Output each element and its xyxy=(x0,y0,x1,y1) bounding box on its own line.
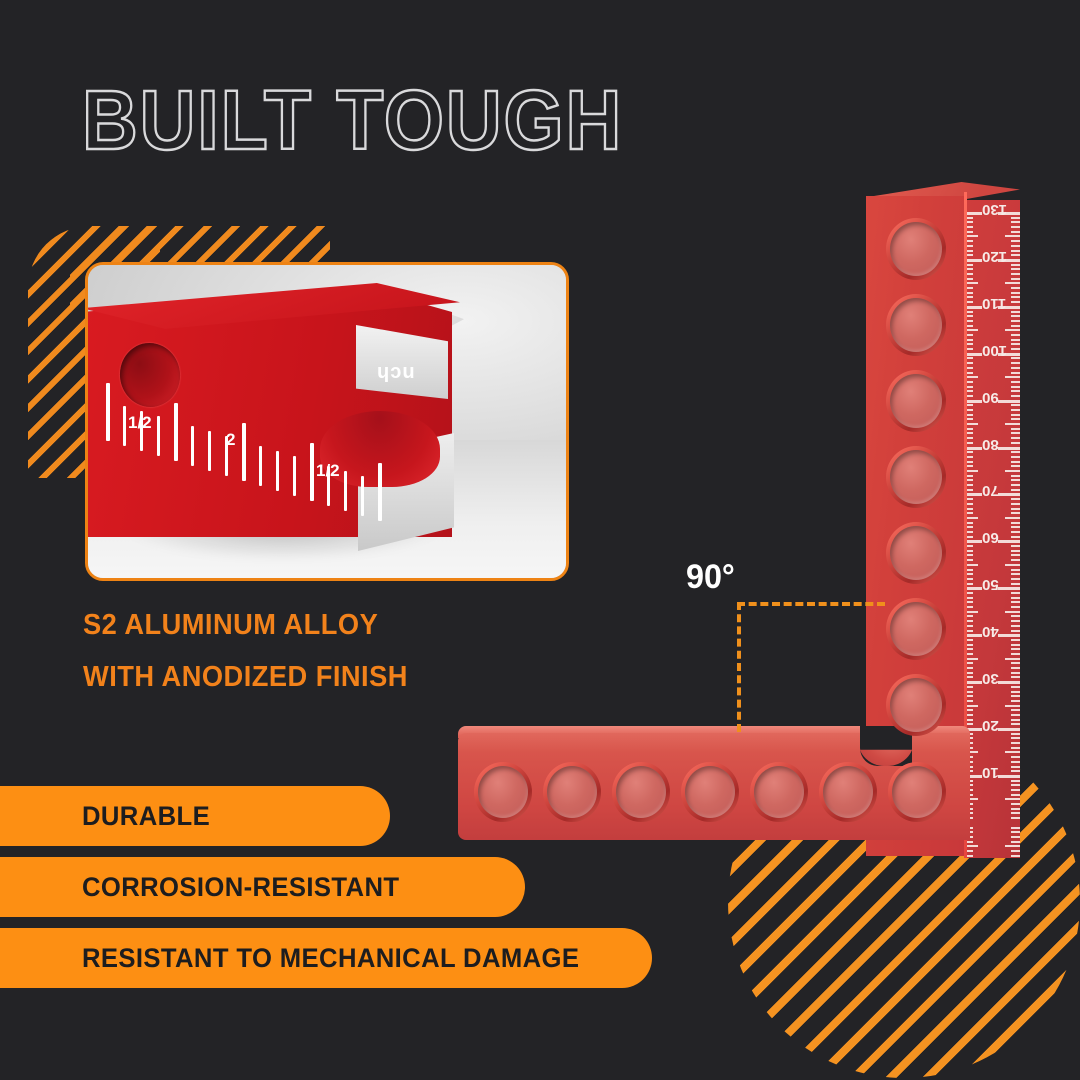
ruler-tick-minor-left xyxy=(966,240,973,242)
ruler-tick-minor-left xyxy=(966,268,973,270)
ruler-tick-minor-left xyxy=(966,437,973,439)
ruler-tick-minor xyxy=(1011,714,1020,716)
ruler-tick-minor xyxy=(1011,597,1020,599)
ruler-tick-major xyxy=(998,681,1020,684)
ruler-tick-minor xyxy=(1011,578,1020,580)
ruler-tick-minor xyxy=(1005,470,1020,472)
ruler-tick-minor-left xyxy=(966,498,973,500)
ruler-tick-minor-left xyxy=(966,278,973,280)
ruler-tick-minor xyxy=(1005,658,1020,660)
ruler-tick-minor xyxy=(1011,245,1020,247)
ruler-tick-minor xyxy=(1011,573,1020,575)
product-illustration: 130120110100908070605040302010 xyxy=(440,170,1040,870)
ruler-tick-minor-left xyxy=(966,611,978,613)
ruler-tick-minor xyxy=(1011,761,1020,763)
ruler-tick-minor-left xyxy=(966,615,973,617)
ruler-tick-minor-left xyxy=(966,639,973,641)
ruler-tick-minor-left xyxy=(966,414,973,416)
ruler-tick-minor xyxy=(1011,339,1020,341)
ruler-tick-minor xyxy=(1011,817,1020,819)
ruler-tick-minor xyxy=(1011,451,1020,453)
mounting-hole xyxy=(890,678,942,732)
photo-ruler-label: 2 xyxy=(226,430,235,450)
ruler-tick-minor-left xyxy=(966,381,973,383)
ruler-tick-major xyxy=(998,728,1020,731)
ruler-tick-minor xyxy=(1011,386,1020,388)
ruler-tick-minor-left xyxy=(966,235,978,237)
ruler-tick-minor-left xyxy=(966,597,973,599)
ruler-tick-minor xyxy=(1011,465,1020,467)
ruler-tick-minor-left xyxy=(966,644,973,646)
ruler-tick-minor xyxy=(1011,648,1020,650)
ruler-tick-minor xyxy=(1011,672,1020,674)
ruler-tick-minor xyxy=(1011,709,1020,711)
ruler-tick-minor xyxy=(1011,531,1020,533)
ruler-tick-minor-left xyxy=(966,372,973,374)
ruler-tick-minor xyxy=(1011,254,1020,256)
ruler-tick-minor xyxy=(1011,695,1020,697)
ruler-tick-minor xyxy=(1005,705,1020,707)
ruler-tick-minor-left xyxy=(966,456,973,458)
ruler-tick-minor-left xyxy=(966,845,978,847)
ruler-tick-minor-left xyxy=(966,620,973,622)
mounting-hole xyxy=(890,526,942,580)
ruler-tick-minor xyxy=(1011,536,1020,538)
ruler-tick-major xyxy=(998,634,1020,637)
ruler-tick-minor xyxy=(1011,348,1020,350)
photo-ruler-tick xyxy=(344,471,347,511)
ruler-tick-minor xyxy=(1011,240,1020,242)
ruler-tick-minor xyxy=(1011,479,1020,481)
ruler-tick-minor xyxy=(1011,676,1020,678)
ruler-number: 90 xyxy=(982,389,999,406)
ruler-tick-minor xyxy=(1011,733,1020,735)
ruler-tick-minor-left xyxy=(966,475,973,477)
ruler-tick-minor-left xyxy=(966,841,973,843)
ruler-tick-minor xyxy=(1011,231,1020,233)
ruler-tick-minor xyxy=(1011,381,1020,383)
infographic-canvas: BUILT TOUGH nch 1/2 2 1/2 S2 ALUMINUM AL… xyxy=(0,0,1080,1080)
feature-pill-corrosion-resistant[interactable]: CORROSION-RESISTANT xyxy=(0,857,525,917)
mounting-hole xyxy=(754,766,804,818)
ruler-tick-minor xyxy=(1011,770,1020,772)
mounting-hole xyxy=(890,298,942,352)
ruler-tick-minor-left xyxy=(966,714,973,716)
ruler-tick-minor xyxy=(1011,325,1020,327)
ruler-tick-minor-left xyxy=(966,292,973,294)
photo-ruler-label: 1/2 xyxy=(128,413,152,433)
ruler-tick-minor-left xyxy=(966,573,973,575)
ruler-tick-minor xyxy=(1011,287,1020,289)
ruler-tick-minor xyxy=(1011,780,1020,782)
mounting-hole xyxy=(890,450,942,504)
ruler-tick-minor-left xyxy=(966,250,973,252)
ruler-tick-minor xyxy=(1011,414,1020,416)
ruler-tick-minor-left xyxy=(966,432,973,434)
ruler-tick-minor-left xyxy=(966,325,973,327)
ruler-tick-minor-left xyxy=(966,320,973,322)
ruler-tick-minor-left xyxy=(966,700,973,702)
ruler-tick-minor xyxy=(1005,282,1020,284)
ruler-tick-major xyxy=(998,447,1020,450)
mounting-hole xyxy=(547,766,597,818)
ruler-tick-minor xyxy=(1011,273,1020,275)
ruler-tick-minor xyxy=(1011,508,1020,510)
ruler-tick-minor xyxy=(1011,343,1020,345)
ruler-tick-minor-left xyxy=(966,592,973,594)
ruler-tick-minor-left xyxy=(966,221,973,223)
ruler-tick-minor xyxy=(1011,526,1020,528)
ruler-tick-minor xyxy=(1011,667,1020,669)
ruler-tick-minor-left xyxy=(966,564,978,566)
ruler-tick-minor xyxy=(1011,498,1020,500)
ruler-tick-minor xyxy=(1011,268,1020,270)
ruler-tick-minor xyxy=(1011,390,1020,392)
mounting-hole xyxy=(890,222,942,276)
ruler-number: 40 xyxy=(982,623,999,640)
vertical-arm-ruler-face: 130120110100908070605040302010 xyxy=(966,200,1020,858)
ruler-tick-minor xyxy=(1005,751,1020,753)
ruler-tick-major xyxy=(998,540,1020,543)
ruler-tick-major-left xyxy=(966,306,982,309)
ruler-tick-minor-left xyxy=(966,386,973,388)
material-caption-line2: WITH ANODIZED FINISH xyxy=(83,661,408,694)
ruler-tick-minor-left xyxy=(966,484,973,486)
photo-ruler-ticks xyxy=(100,417,390,537)
ruler-tick-minor xyxy=(1011,442,1020,444)
ruler-tick-minor-left xyxy=(966,508,973,510)
photo-ruler-tick xyxy=(242,423,246,481)
ruler-tick-minor-left xyxy=(966,648,973,650)
angle-guide-vertical xyxy=(737,602,741,732)
ruler-tick-minor-left xyxy=(966,601,973,603)
ruler-number: 10 xyxy=(982,764,999,781)
ruler-tick-minor-left xyxy=(966,428,973,430)
ruler-tick-minor-left xyxy=(966,451,973,453)
photo-ruler-tick xyxy=(174,403,178,461)
ruler-tick-minor xyxy=(1011,662,1020,664)
mounting-hole xyxy=(616,766,666,818)
ruler-tick-minor xyxy=(1011,278,1020,280)
ruler-tick-minor-left xyxy=(966,662,973,664)
ruler-tick-minor-left xyxy=(966,526,973,528)
ruler-tick-minor-left xyxy=(966,334,973,336)
ruler-tick-minor-left xyxy=(966,409,973,411)
ruler-tick-minor-left xyxy=(966,667,973,669)
ruler-tick-minor-left xyxy=(966,719,973,721)
ruler-tick-minor-left xyxy=(966,376,978,378)
ruler-tick-minor-left xyxy=(966,245,973,247)
ruler-tick-minor xyxy=(1011,428,1020,430)
ruler-tick-minor xyxy=(1011,292,1020,294)
ruler-tick-minor xyxy=(1011,484,1020,486)
ruler-tick-minor-left xyxy=(966,231,973,233)
ruler-tick-minor xyxy=(1011,489,1020,491)
ruler-tick-major-left xyxy=(966,353,982,356)
ruler-tick-minor xyxy=(1011,606,1020,608)
ruler-tick-minor xyxy=(1005,517,1020,519)
ruler-tick-minor xyxy=(1011,836,1020,838)
photo-ruler-tick xyxy=(276,451,279,491)
ruler-tick-minor xyxy=(1011,700,1020,702)
ruler-number: 110 xyxy=(982,295,1006,312)
ruler-tick-minor-left xyxy=(966,423,978,425)
ruler-tick-major-left xyxy=(966,212,982,215)
ruler-tick-minor-left xyxy=(966,512,973,514)
ruler-tick-major-left xyxy=(966,447,982,450)
feature-pill-label: DURABLE xyxy=(82,801,210,832)
ruler-tick-minor xyxy=(1011,409,1020,411)
ruler-tick-minor-left xyxy=(966,723,973,725)
ruler-tick-minor-left xyxy=(966,522,973,524)
ruler-tick-minor-left xyxy=(966,315,973,317)
ruler-tick-minor-left xyxy=(966,691,973,693)
ruler-tick-minor-left xyxy=(966,695,973,697)
ruler-tick-minor xyxy=(1011,512,1020,514)
ruler-tick-minor xyxy=(1011,812,1020,814)
ruler-tick-minor xyxy=(1011,311,1020,313)
ruler-tick-minor xyxy=(1011,850,1020,852)
photo-ruler-tick xyxy=(123,406,126,446)
ruler-tick-minor-left xyxy=(966,625,973,627)
ruler-tick-minor xyxy=(1011,639,1020,641)
ruler-tick-minor xyxy=(1011,550,1020,552)
photo-ruler-tick xyxy=(293,456,296,496)
ruler-tick-minor-left xyxy=(966,367,973,369)
ruler-tick-minor xyxy=(1011,620,1020,622)
photo-ruler-label: 1/2 xyxy=(316,461,340,481)
ruler-tick-minor-left xyxy=(966,296,973,298)
ruler-tick-minor xyxy=(1011,841,1020,843)
ruler-number: 80 xyxy=(982,436,999,453)
ruler-tick-minor xyxy=(1011,475,1020,477)
ruler-tick-minor xyxy=(1011,742,1020,744)
ruler-tick-major-left xyxy=(966,587,982,590)
ruler-number: 60 xyxy=(982,529,999,546)
ruler-tick-minor xyxy=(1011,296,1020,298)
ruler-tick-minor-left xyxy=(966,404,973,406)
ruler-number: 70 xyxy=(982,482,999,499)
ruler-tick-minor xyxy=(1005,235,1020,237)
ruler-tick-minor xyxy=(1005,376,1020,378)
ruler-tick-minor xyxy=(1011,630,1020,632)
ruler-tick-minor xyxy=(1011,362,1020,364)
material-caption-line1: S2 ALUMINUM ALLOY xyxy=(83,609,378,642)
ruler-tick-minor xyxy=(1011,357,1020,359)
ruler-tick-minor-left xyxy=(966,357,973,359)
ruler-tick-minor xyxy=(1005,423,1020,425)
mounting-hole xyxy=(892,766,942,818)
ruler-tick-minor xyxy=(1011,226,1020,228)
ruler-number: 30 xyxy=(982,670,999,687)
ruler-tick-minor-left xyxy=(966,569,973,571)
ruler-tick-minor xyxy=(1011,794,1020,796)
ruler-tick-minor xyxy=(1005,564,1020,566)
ruler-tick-minor xyxy=(1011,367,1020,369)
ruler-tick-minor-left xyxy=(966,465,973,467)
ruler-tick-minor xyxy=(1011,855,1020,857)
ruler-tick-minor-left xyxy=(966,658,978,660)
angle-guide-horizontal xyxy=(737,602,885,606)
ruler-tick-minor-left xyxy=(966,536,973,538)
ruler-tick-minor xyxy=(1011,615,1020,617)
ruler-tick-minor xyxy=(1005,798,1020,800)
ruler-tick-major-left xyxy=(966,540,982,543)
ruler-tick-minor-left xyxy=(966,850,973,852)
ruler-tick-major-left xyxy=(966,259,982,262)
angle-label: 90° xyxy=(686,558,735,597)
photo-ruler-tick xyxy=(191,426,194,466)
ruler-tick-minor-left xyxy=(966,461,973,463)
ruler-tick-minor-left xyxy=(966,273,973,275)
ruler-tick-minor xyxy=(1011,217,1020,219)
photo-ruler-tick xyxy=(361,476,364,516)
ruler-tick-minor xyxy=(1011,395,1020,397)
ruler-tick-minor xyxy=(1011,301,1020,303)
photo-ruler-tick xyxy=(106,383,110,441)
ruler-number: 120 xyxy=(982,248,1007,265)
ruler-tick-major xyxy=(998,587,1020,590)
feature-pill-mechanical-damage[interactable]: RESISTANT TO MECHANICAL DAMAGE xyxy=(0,928,652,988)
ruler-tick-minor-left xyxy=(966,855,973,857)
ruler-tick-minor-left xyxy=(966,442,973,444)
ruler-tick-minor xyxy=(1011,418,1020,420)
ruler-tick-minor xyxy=(1011,831,1020,833)
ruler-tick-minor xyxy=(1011,723,1020,725)
ruler-tick-minor xyxy=(1011,808,1020,810)
page-title: BUILT TOUGH xyxy=(82,78,623,162)
ruler-tick-major-left xyxy=(966,634,982,637)
ruler-tick-minor xyxy=(1011,827,1020,829)
ruler-tick-minor-left xyxy=(966,630,973,632)
ruler-tick-minor xyxy=(1011,334,1020,336)
ruler-tick-minor-left xyxy=(966,545,973,547)
ruler-number: 20 xyxy=(982,717,999,734)
ruler-tick-minor-left xyxy=(966,653,973,655)
ruler-tick-major-left xyxy=(966,681,982,684)
mounting-hole xyxy=(890,602,942,656)
ruler-tick-minor xyxy=(1011,456,1020,458)
ruler-tick-minor xyxy=(1011,554,1020,556)
ruler-tick-minor xyxy=(1011,503,1020,505)
photo-ruler-tick xyxy=(157,416,160,456)
ruler-tick-minor-left xyxy=(966,559,973,561)
ruler-tick-minor-left xyxy=(966,301,973,303)
ruler-tick-minor-left xyxy=(966,418,973,420)
ruler-tick-minor xyxy=(1011,559,1020,561)
ruler-tick-minor xyxy=(1011,569,1020,571)
ruler-tick-minor xyxy=(1011,264,1020,266)
ruler-tick-minor xyxy=(1011,653,1020,655)
ruler-tick-minor-left xyxy=(966,226,973,228)
ruler-tick-major xyxy=(998,493,1020,496)
ruler-tick-minor xyxy=(1005,845,1020,847)
ruler-tick-minor-left xyxy=(966,489,973,491)
ruler-tick-major-left xyxy=(966,400,982,403)
photo-ruler-tick xyxy=(378,463,382,521)
ruler-number: 130 xyxy=(982,201,1007,218)
ruler-tick-minor-left xyxy=(966,705,978,707)
ruler-tick-minor xyxy=(1011,737,1020,739)
ruler-tick-minor-left xyxy=(966,217,973,219)
ruler-tick-minor xyxy=(1011,320,1020,322)
ruler-tick-minor-left xyxy=(966,287,973,289)
ruler-tick-minor xyxy=(1005,611,1020,613)
ruler-tick-minor-left xyxy=(966,517,978,519)
ruler-tick-major-left xyxy=(966,493,982,496)
ruler-tick-minor xyxy=(1011,522,1020,524)
ruler-tick-minor-left xyxy=(966,554,973,556)
photo-ruler-tick xyxy=(259,446,262,486)
ruler-tick-minor-left xyxy=(966,339,973,341)
ruler-tick-minor xyxy=(1011,644,1020,646)
ruler-number: 100 xyxy=(982,342,1007,359)
mounting-hole xyxy=(890,374,942,428)
ruler-tick-minor xyxy=(1011,404,1020,406)
ruler-tick-minor-left xyxy=(966,264,973,266)
ruler-tick-minor-left xyxy=(966,254,973,256)
ruler-tick-minor-left xyxy=(966,311,973,313)
ruler-tick-minor-left xyxy=(966,578,973,580)
photo-ruler-tick xyxy=(310,443,314,501)
ruler-tick-minor xyxy=(1011,784,1020,786)
ruler-tick-minor-left xyxy=(966,672,973,674)
feature-pill-label: RESISTANT TO MECHANICAL DAMAGE xyxy=(82,943,579,974)
ruler-tick-minor-left xyxy=(966,390,973,392)
ruler-tick-minor xyxy=(1011,625,1020,627)
engraved-inch-text: nch xyxy=(376,361,415,384)
ruler-tick-minor-left xyxy=(966,479,973,481)
ruler-tick-minor xyxy=(1011,545,1020,547)
ruler-tick-minor-left xyxy=(966,583,973,585)
mounting-hole xyxy=(685,766,735,818)
ruler-tick-minor xyxy=(1011,601,1020,603)
ruler-tick-minor-left xyxy=(966,550,973,552)
ruler-tick-minor-left xyxy=(966,606,973,608)
ruler-tick-minor xyxy=(1011,250,1020,252)
ruler-tick-minor-left xyxy=(966,676,973,678)
ruler-tick-minor-left xyxy=(966,362,973,364)
ruler-number: 50 xyxy=(982,576,999,593)
photo-ruler-tick xyxy=(208,431,211,471)
ruler-tick-minor-left xyxy=(966,343,973,345)
ruler-tick-minor xyxy=(1011,372,1020,374)
ruler-tick-minor xyxy=(1011,691,1020,693)
ruler-tick-major xyxy=(998,400,1020,403)
ruler-tick-minor xyxy=(1011,221,1020,223)
ruler-tick-major xyxy=(998,775,1020,778)
ruler-tick-minor-left xyxy=(966,348,973,350)
mounting-hole xyxy=(478,766,528,818)
ruler-tick-minor-left xyxy=(966,709,973,711)
ruler-tick-minor xyxy=(1011,686,1020,688)
ruler-tick-minor xyxy=(1011,583,1020,585)
ruler-tick-minor xyxy=(1011,315,1020,317)
ruler-tick-minor xyxy=(1011,747,1020,749)
ruler-tick-minor xyxy=(1005,329,1020,331)
feature-pill-durable[interactable]: DURABLE xyxy=(0,786,390,846)
mounting-hole xyxy=(823,766,873,818)
ruler-tick-minor xyxy=(1011,789,1020,791)
ruler-tick-minor xyxy=(1011,437,1020,439)
ruler-tick-minor xyxy=(1011,432,1020,434)
ruler-tick-minor xyxy=(1011,803,1020,805)
ruler-tick-minor-left xyxy=(966,503,973,505)
feature-pill-label: CORROSION-RESISTANT xyxy=(82,872,399,903)
ruler-tick-minor-left xyxy=(966,686,973,688)
ruler-tick-minor-left xyxy=(966,531,973,533)
ruler-tick-minor-left xyxy=(966,282,978,284)
